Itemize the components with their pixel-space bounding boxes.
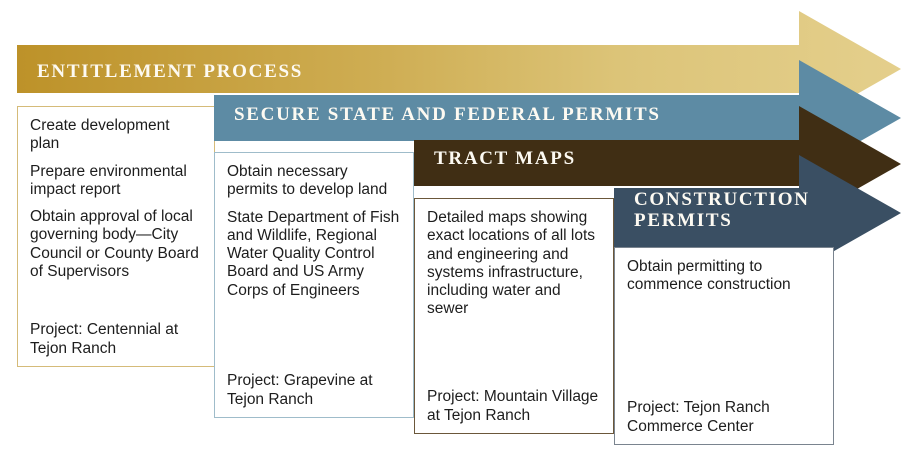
bullet-item: Create development plan bbox=[30, 117, 202, 154]
stage-project-3: Project: Mountain Village at Tejon Ranch bbox=[427, 388, 601, 425]
bullet-item: Prepare environmental impact report bbox=[30, 163, 202, 200]
stage-body-tract-maps[interactable]: Detailed maps showing exact locations of… bbox=[414, 198, 614, 434]
bullet-item: Obtain permitting to commence constructi… bbox=[627, 258, 821, 295]
stage-body-entitlement-process[interactable]: Create development plan Prepare environm… bbox=[17, 106, 215, 367]
body-spacer bbox=[30, 281, 202, 321]
stage-project-2: Project: Grapevine at Tejon Ranch bbox=[227, 372, 401, 409]
body-spacer bbox=[227, 300, 401, 372]
bullet-item: Obtain necessary permits to develop land bbox=[227, 163, 401, 200]
stage-body-secure-state-and-federal-permits[interactable]: Obtain necessary permits to develop land… bbox=[214, 152, 414, 418]
bullet-item: State Department of Fish and Wildlife, R… bbox=[227, 209, 401, 300]
stage-bullets-2: Obtain necessary permits to develop land… bbox=[227, 163, 401, 300]
stage-bullets-4: Obtain permitting to commence constructi… bbox=[627, 258, 821, 295]
stage-project-4: Project: Tejon Ranch Commerce Center bbox=[627, 399, 821, 436]
stage-body-construction-permits[interactable]: Obtain permitting to commence constructi… bbox=[614, 247, 834, 445]
stage-project-1: Project: Centennial at Tejon Ranch bbox=[30, 321, 202, 358]
body-spacer bbox=[627, 295, 821, 400]
bullet-item: Detailed maps showing exact locations of… bbox=[427, 209, 601, 319]
stage-bullets-1: Create development plan Prepare environm… bbox=[30, 117, 202, 281]
process-diagram: ENTITLEMENT PROCESS Create development p… bbox=[0, 0, 907, 461]
stage-bullets-3: Detailed maps showing exact locations of… bbox=[427, 209, 601, 319]
bullet-item: Obtain approval of local governing body—… bbox=[30, 208, 202, 281]
body-spacer bbox=[427, 319, 601, 389]
